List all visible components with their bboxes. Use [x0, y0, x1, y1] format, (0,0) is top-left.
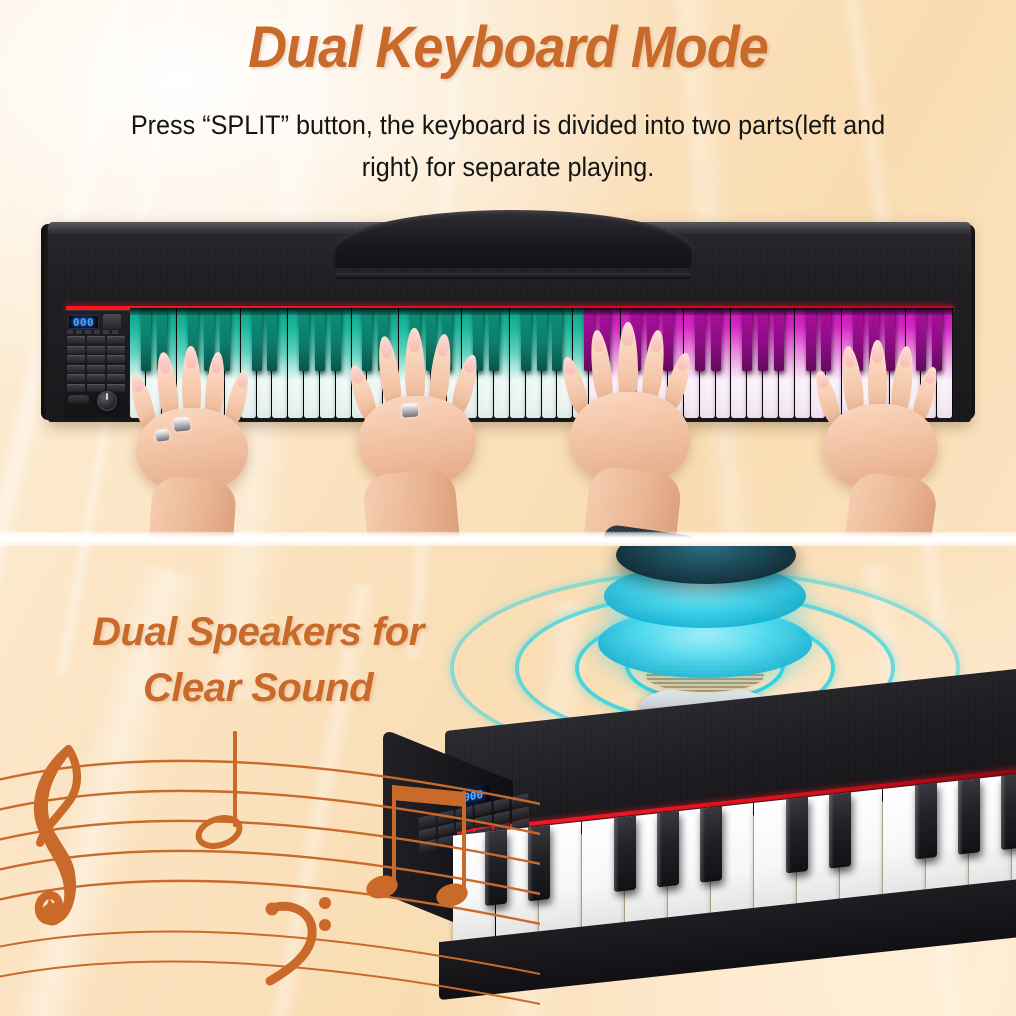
white-key[interactable] — [684, 308, 699, 418]
section2-title-line2: Clear Sound — [48, 660, 468, 716]
section-divider — [0, 532, 1016, 546]
white-key[interactable] — [478, 308, 493, 418]
panel-button[interactable] — [67, 384, 85, 392]
white-key[interactable] — [937, 308, 952, 418]
black-key[interactable] — [657, 811, 679, 887]
section2-title-line1: Dual Speakers for — [48, 604, 468, 660]
panel-button[interactable] — [67, 355, 85, 363]
key-shadow-band — [130, 308, 953, 315]
white-key[interactable] — [257, 308, 272, 418]
panel-button[interactable] — [87, 346, 105, 354]
black-key[interactable] — [786, 797, 808, 873]
music-rest — [333, 210, 693, 268]
white-key[interactable] — [842, 308, 857, 418]
white-key[interactable] — [526, 308, 541, 418]
white-key[interactable] — [906, 308, 921, 418]
white-key[interactable] — [130, 308, 145, 418]
staff-line — [0, 821, 540, 867]
panel-button[interactable] — [107, 355, 125, 363]
forearm — [362, 468, 462, 540]
panel-button[interactable] — [107, 374, 125, 382]
panel-button[interactable] — [87, 336, 105, 344]
white-key[interactable] — [241, 308, 256, 418]
white-key[interactable] — [858, 308, 873, 418]
forearm — [581, 465, 683, 540]
white-key[interactable] — [510, 308, 525, 418]
forearm — [841, 470, 939, 540]
section-dual-keyboard-mode: Dual Keyboard Mode Press “SPLIT” button,… — [0, 0, 1016, 540]
white-key[interactable] — [605, 308, 620, 418]
white-key[interactable] — [336, 308, 351, 418]
white-key[interactable] — [890, 308, 905, 418]
white-key[interactable] — [779, 308, 794, 418]
panel-button[interactable] — [67, 365, 85, 373]
panel-button[interactable] — [87, 355, 105, 363]
white-key[interactable] — [320, 308, 335, 418]
white-key[interactable] — [399, 308, 414, 418]
white-key[interactable] — [668, 308, 683, 418]
white-key[interactable] — [367, 308, 382, 418]
black-key[interactable] — [915, 783, 937, 859]
digital-piano-front-view: 000 — [48, 222, 971, 422]
white-key[interactable] — [162, 308, 177, 418]
panel-button[interactable] — [67, 336, 85, 344]
white-key[interactable] — [225, 308, 240, 418]
brand-logo — [103, 314, 121, 329]
white-key[interactable] — [763, 308, 778, 418]
white-key[interactable] — [209, 308, 224, 418]
control-panel[interactable]: 000 — [64, 310, 128, 418]
white-key[interactable] — [304, 308, 319, 418]
function-button-grid[interactable] — [67, 336, 125, 392]
ring — [155, 429, 169, 442]
white-key[interactable] — [557, 308, 572, 418]
white-key[interactable] — [447, 308, 462, 418]
white-key[interactable] — [494, 308, 509, 418]
white-key[interactable] — [383, 308, 398, 418]
music-rest-ledge — [335, 273, 691, 279]
panel-button[interactable] — [107, 346, 125, 354]
white-key[interactable] — [272, 308, 287, 418]
section1-title: Dual Keyboard Mode — [36, 17, 981, 79]
black-key[interactable] — [614, 816, 636, 892]
black-key[interactable] — [1001, 774, 1016, 850]
white-key[interactable] — [811, 308, 826, 418]
panel-button[interactable] — [67, 374, 85, 382]
music-staff-graphic — [0, 721, 540, 1016]
white-key[interactable] — [288, 308, 303, 418]
black-key[interactable] — [829, 792, 851, 868]
white-key[interactable] — [795, 308, 810, 418]
white-key[interactable] — [177, 308, 192, 418]
section1-subtitle: Press “SPLIT” button, the keyboard is di… — [116, 104, 901, 188]
panel-button-split[interactable] — [87, 365, 105, 373]
white-key[interactable] — [637, 308, 652, 418]
panel-button[interactable] — [107, 336, 125, 344]
keyboard[interactable] — [130, 308, 953, 418]
panel-button[interactable] — [107, 365, 125, 373]
white-key[interactable] — [431, 308, 446, 418]
product-infographic: Dual Keyboard Mode Press “SPLIT” button,… — [0, 0, 1016, 1016]
white-key[interactable] — [415, 308, 430, 418]
white-key[interactable] — [731, 308, 746, 418]
treble-clef-icon — [38, 749, 77, 925]
white-key[interactable] — [716, 308, 731, 418]
panel-button[interactable] — [67, 346, 85, 354]
white-key[interactable] — [573, 308, 588, 418]
panel-label-strip — [67, 330, 121, 334]
section-dual-speakers: Dual Speakers for Clear Sound 000 — [0, 546, 1016, 1016]
black-key[interactable] — [958, 778, 980, 854]
panel-button[interactable] — [87, 374, 105, 382]
white-key[interactable] — [542, 308, 557, 418]
white-keys[interactable] — [130, 308, 953, 418]
white-key[interactable] — [621, 308, 636, 418]
black-key[interactable] — [700, 806, 722, 882]
white-key[interactable] — [700, 308, 715, 418]
led-display: 000 — [68, 315, 99, 329]
white-key[interactable] — [652, 308, 667, 418]
forearm — [147, 475, 237, 540]
section2-title: Dual Speakers for Clear Sound — [48, 604, 468, 716]
white-key[interactable] — [747, 308, 762, 418]
led-display-value: 000 — [73, 316, 94, 329]
white-key[interactable] — [352, 308, 367, 418]
white-key[interactable] — [826, 308, 841, 418]
volume-knob[interactable] — [97, 391, 117, 411]
white-key[interactable] — [146, 308, 161, 418]
white-key[interactable] — [874, 308, 889, 418]
staff-line — [0, 931, 540, 977]
white-key[interactable] — [193, 308, 208, 418]
white-key[interactable] — [462, 308, 477, 418]
white-key[interactable] — [589, 308, 604, 418]
power-button[interactable] — [68, 395, 89, 404]
white-key[interactable] — [921, 308, 936, 418]
